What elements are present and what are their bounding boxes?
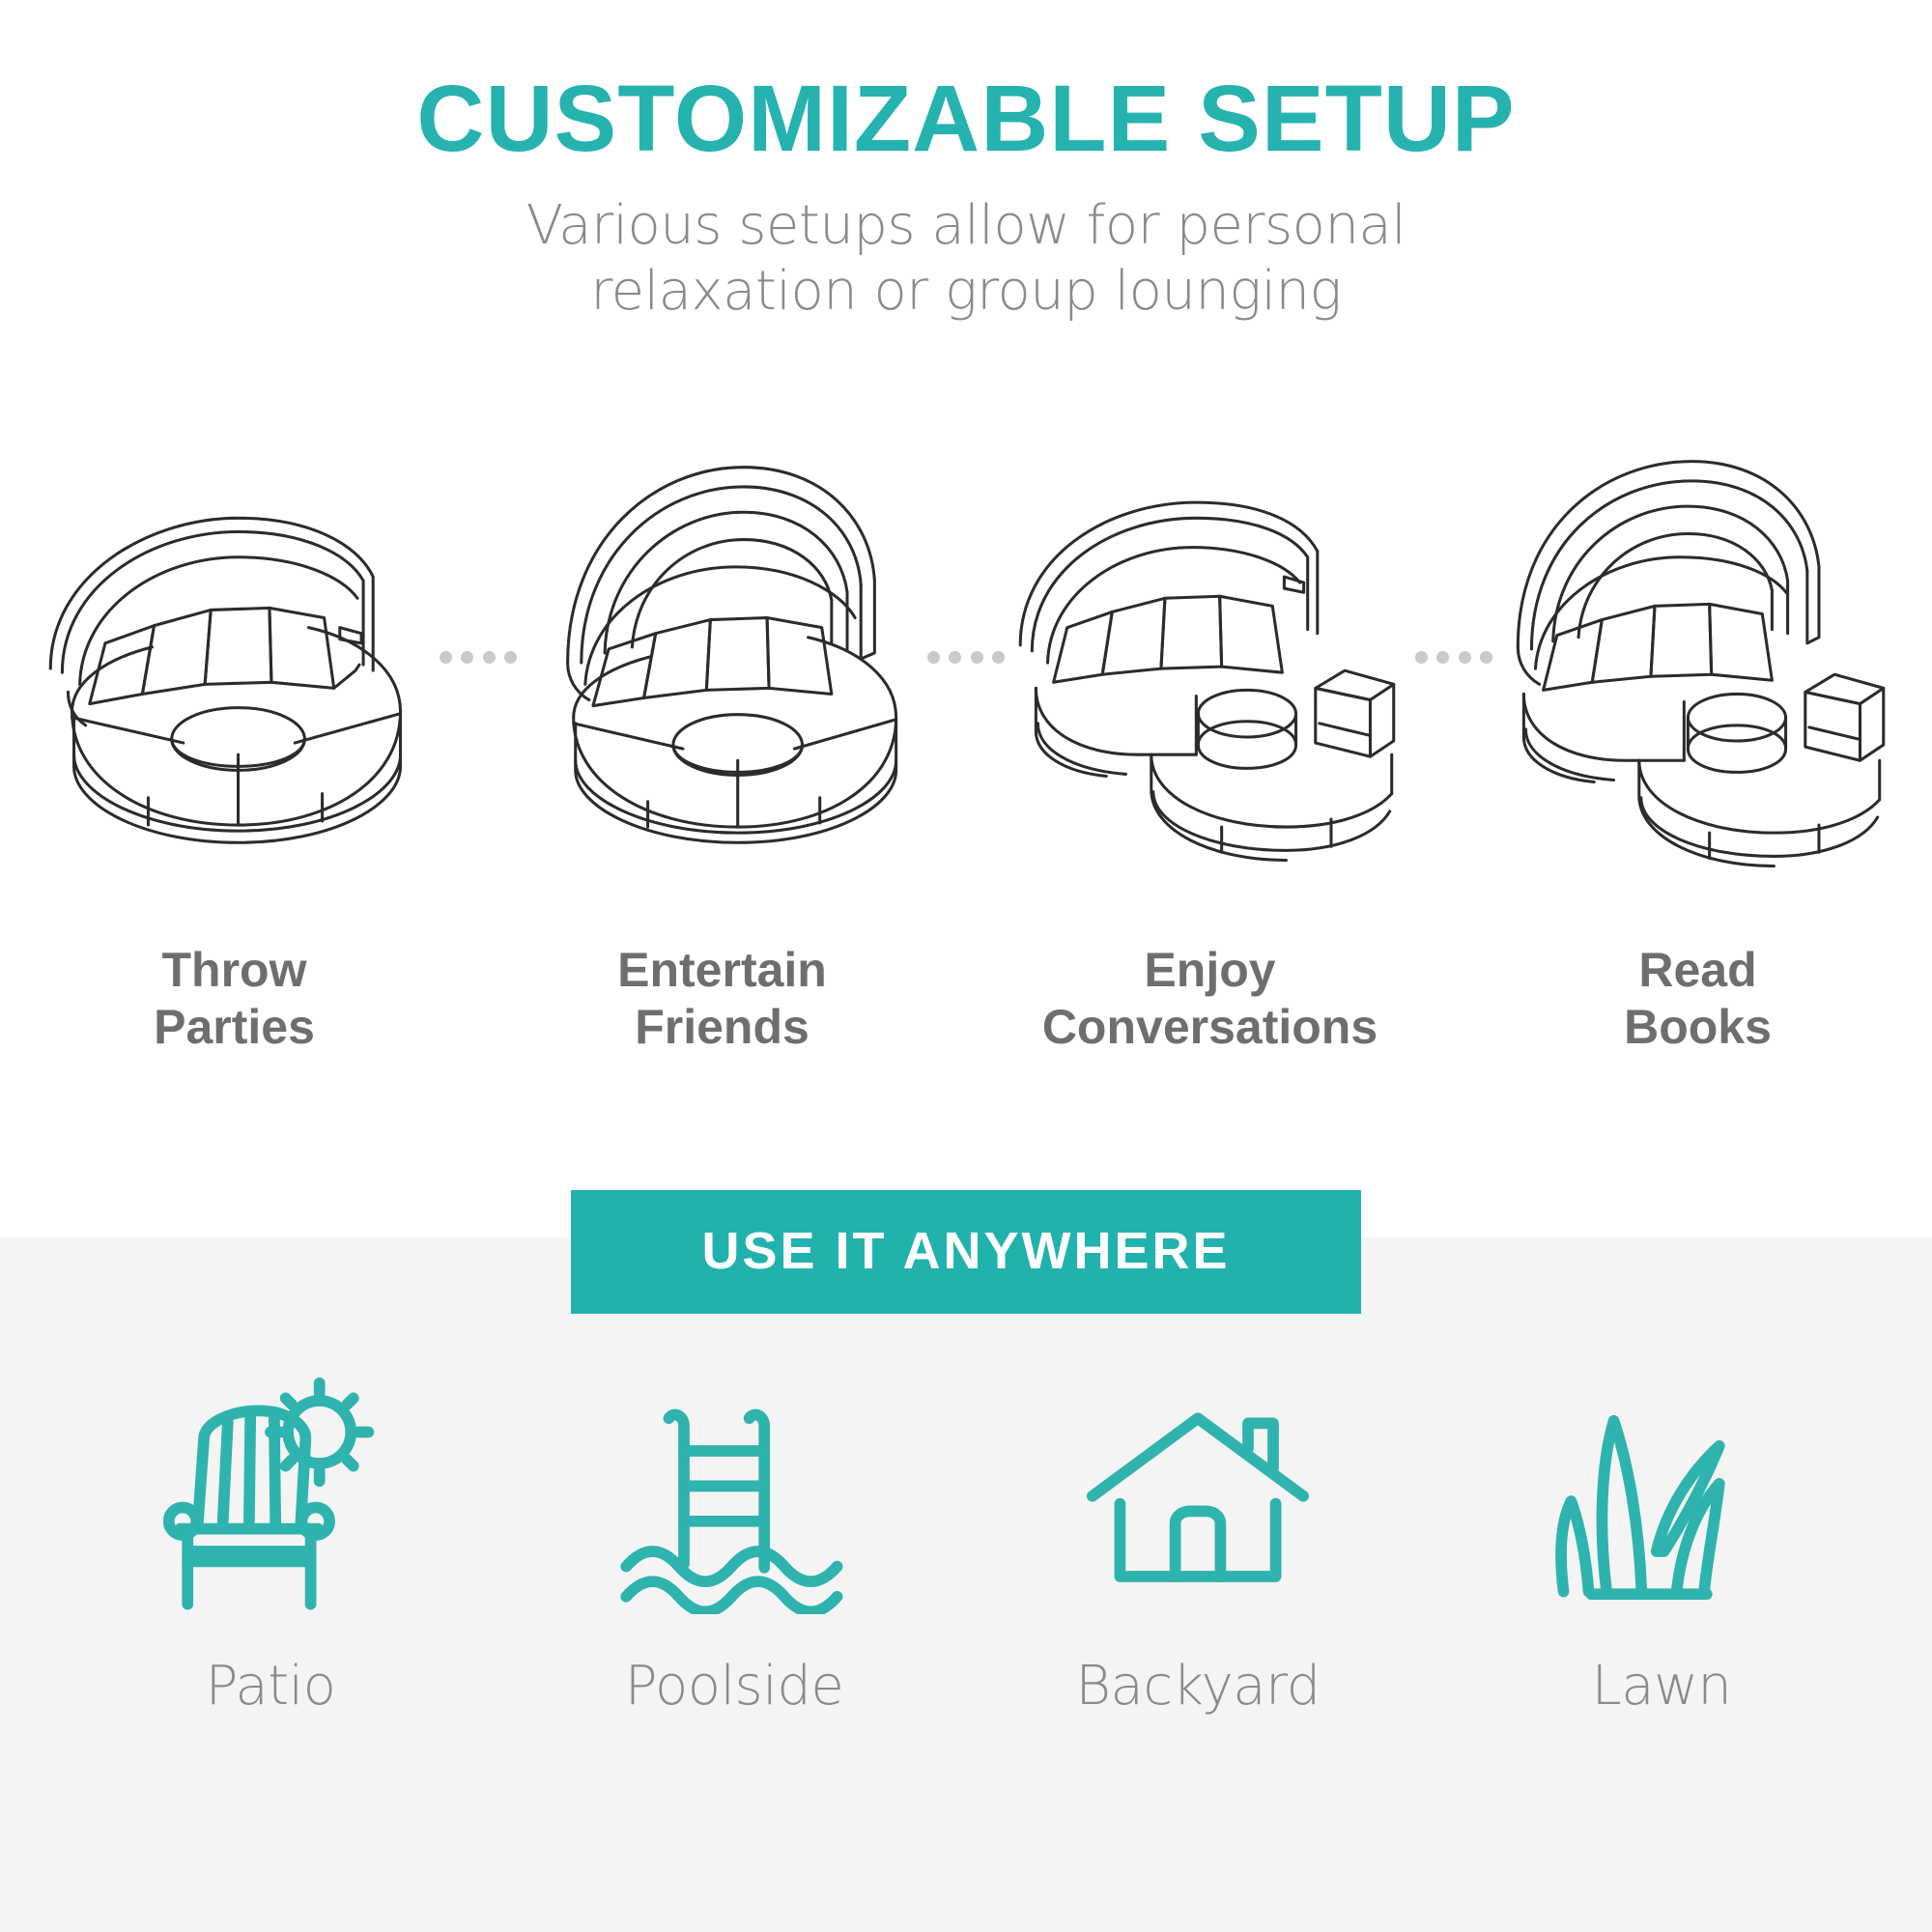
setup-illustration-entertain-friends <box>517 430 927 884</box>
banner-container: USE IT ANYWHERE <box>0 1190 1932 1314</box>
infographic-page: CUSTOMIZABLE SETUP Various setups allow … <box>0 0 1932 1932</box>
setup-label-line-1: Read <box>1492 942 1903 999</box>
setup-label-entertain-friends: Entertain Friends <box>517 942 927 1056</box>
daybed-round-no-canopy-icon <box>29 430 440 884</box>
use-case-label: Poolside <box>625 1655 844 1718</box>
label-gap <box>1415 942 1492 1056</box>
page-title: CUSTOMIZABLE SETUP <box>0 70 1932 168</box>
top-section: CUSTOMIZABLE SETUP Various setups allow … <box>0 0 1932 1236</box>
adirondack-chair-sun-icon <box>145 1363 396 1614</box>
setup-illustration-enjoy-conversations <box>1005 430 1415 884</box>
bottom-section: Patio <box>0 1237 1932 1932</box>
dotted-separator <box>440 650 517 664</box>
setup-label-enjoy-conversations: Enjoy Conversations <box>1005 942 1415 1056</box>
setup-label-read-books: Read Books <box>1492 942 1903 1056</box>
use-case-poolside: Poolside <box>531 1363 937 1718</box>
use-case-label: Patio <box>206 1655 336 1718</box>
setup-label-row: Throw Parties Entertain Friends Enjoy Co… <box>0 942 1932 1056</box>
setup-illustration-row <box>0 425 1932 889</box>
use-case-row: Patio <box>0 1363 1932 1718</box>
setup-label-line-2: Friends <box>517 999 927 1056</box>
daybed-canopy-ottoman-icon <box>1492 430 1903 884</box>
subtitle-line-1: Various setups allow for personal <box>0 193 1932 259</box>
dotted-separator <box>927 650 1005 664</box>
dotted-separator <box>1415 650 1492 664</box>
use-case-lawn: Lawn <box>1459 1363 1864 1718</box>
setup-label-line-1: Throw <box>29 942 440 999</box>
setup-illustration-throw-parties <box>29 430 440 884</box>
grass-blades-icon <box>1536 1363 1787 1614</box>
setup-label-line-1: Enjoy <box>1005 942 1415 999</box>
daybed-split-ottoman-icon <box>1005 430 1415 884</box>
page-subtitle: Various setups allow for personal relaxa… <box>0 193 1932 326</box>
setup-label-throw-parties: Throw Parties <box>29 942 440 1056</box>
use-case-label: Backyard <box>1075 1655 1320 1718</box>
use-case-backyard: Backyard <box>995 1363 1401 1718</box>
setup-label-line-1: Entertain <box>517 942 927 999</box>
pool-ladder-waves-icon <box>609 1363 860 1614</box>
setup-label-line-2: Books <box>1492 999 1903 1056</box>
use-case-patio: Patio <box>68 1363 473 1718</box>
label-gap <box>927 942 1005 1056</box>
house-icon <box>1072 1363 1323 1614</box>
setup-label-line-2: Parties <box>29 999 440 1056</box>
setup-label-line-2: Conversations <box>1005 999 1415 1056</box>
setup-illustration-read-books <box>1492 430 1903 884</box>
use-it-anywhere-banner: USE IT ANYWHERE <box>571 1190 1361 1314</box>
subtitle-line-2: relaxation or group lounging <box>0 259 1932 325</box>
daybed-round-canopy-icon <box>517 430 927 884</box>
label-gap <box>440 942 517 1056</box>
use-case-label: Lawn <box>1592 1655 1732 1718</box>
